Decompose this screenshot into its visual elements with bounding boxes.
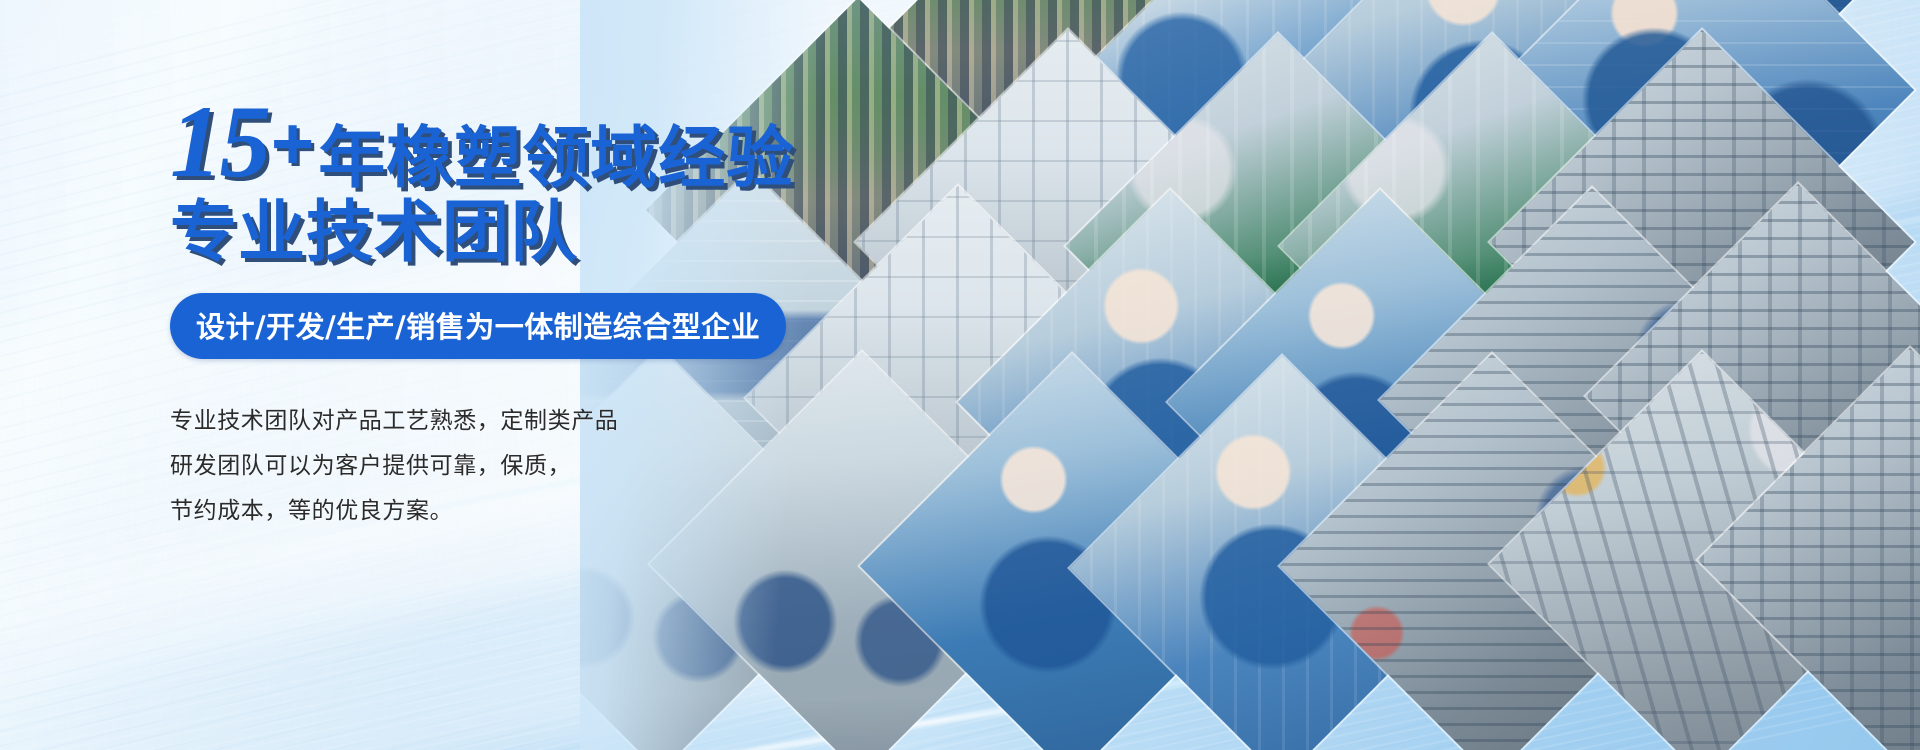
headline-line-2: 专业技术团队 <box>170 197 930 267</box>
plus-sign: + <box>271 107 314 181</box>
headline-line-2-text: 专业技术团队 <box>170 193 578 271</box>
banner-text-content: 15 + 年橡塑领域经验 专业技术团队 设计/开发/生产/销售为一体制造综合型企… <box>170 92 930 534</box>
company-banner: 15 + 年橡塑领域经验 专业技术团队 设计/开发/生产/销售为一体制造综合型企… <box>0 0 1920 750</box>
description-line-3: 节约成本，等的优良方案。 <box>170 489 930 534</box>
headline: 15 + 年橡塑领域经验 专业技术团队 <box>170 92 930 267</box>
headline-line-1-text: 年橡塑领域经验 <box>318 123 794 193</box>
description-line-2: 研发团队可以为客户提供可靠，保质， <box>170 444 930 489</box>
description-line-1: 专业技术团队对产品工艺熟悉，定制类产品 <box>170 399 930 444</box>
description-paragraph: 专业技术团队对产品工艺熟悉，定制类产品 研发团队可以为客户提供可靠，保质， 节约… <box>170 399 930 534</box>
headline-line-1: 15 + 年橡塑领域经验 <box>170 92 930 193</box>
years-number: 15 <box>170 92 269 193</box>
tagline-pill: 设计/开发/生产/销售为一体制造综合型企业 <box>170 293 786 359</box>
